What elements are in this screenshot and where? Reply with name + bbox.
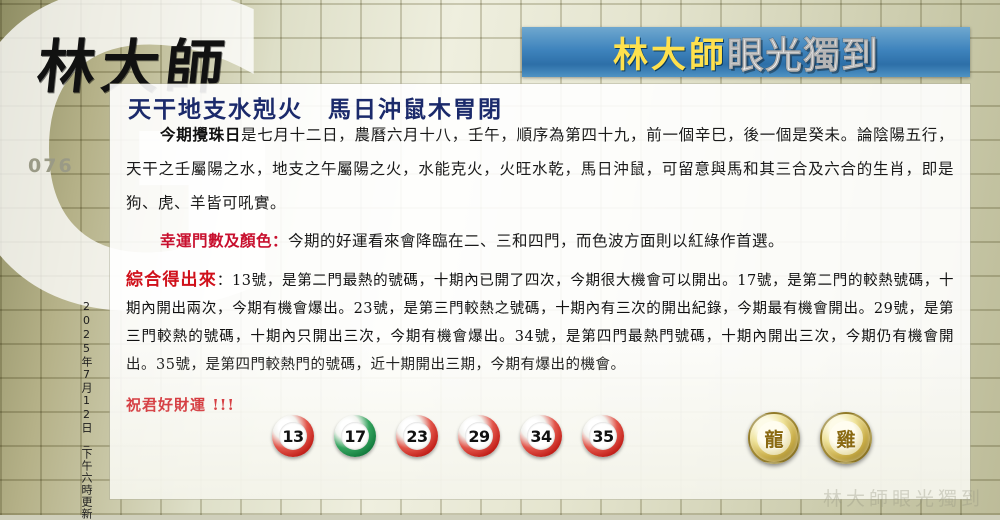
lottery-ball: 34: [520, 415, 562, 457]
bottom-watermark: 林大師眼光獨到: [823, 484, 984, 511]
lottery-ball-number: 13: [282, 427, 303, 446]
update-timestamp: 2025年7月12日_下午六時更新: [78, 300, 94, 520]
lucky-number-balls: 131723293435: [272, 415, 624, 457]
lottery-ball-number: 35: [592, 427, 613, 446]
article-paragraph-3: 綜合得出來：13號，是第二門最熱的號碼，十期內已開了四次，今期很大機會可以開出。…: [126, 267, 954, 379]
paragraph-3-lead: 綜合得出來: [126, 270, 217, 290]
paragraph-2-body: 今期的好運看來會降臨在二、三和四門，而色波方面則以紅綠作首選。: [288, 232, 784, 250]
zodiac-coin-glyph: 龍: [764, 425, 783, 452]
poster-canvas: G 林大師 076 2025年7月12日_下午六時更新 林大師 眼光獨到 天干地…: [0, 0, 1000, 515]
lottery-ball-number: 34: [530, 427, 551, 446]
banner-title-yellow: 林大師: [613, 27, 727, 77]
lottery-ball-number: 29: [468, 427, 489, 446]
lottery-ball-face: 35: [589, 422, 617, 450]
paragraph-1-lead: 今期攪珠日: [160, 125, 241, 144]
lottery-ball-face: 23: [403, 422, 431, 450]
paragraph-1-body: 是七月十二日，農曆六月十八，壬午，順序為第四十九，前一個辛巳，後一個是癸未。論陰…: [126, 126, 954, 212]
lottery-ball: 35: [582, 415, 624, 457]
zodiac-coin-face: 龍: [757, 421, 791, 455]
lottery-ball-face: 34: [527, 422, 555, 450]
lottery-ball-number: 17: [344, 427, 365, 446]
paragraph-2-lead: 幸運門數及顏色：: [160, 231, 288, 250]
closing-greeting: 祝君好財運 !!!: [126, 394, 235, 415]
zodiac-coin-glyph: 雞: [836, 425, 855, 452]
lottery-ball: 13: [272, 415, 314, 457]
lottery-ball: 17: [334, 415, 376, 457]
lottery-ball: 29: [458, 415, 500, 457]
banner-title-white: 眼光獨到: [727, 27, 879, 77]
lottery-ball-face: 13: [279, 422, 307, 450]
zodiac-coins: 龍雞: [748, 412, 872, 464]
headline-banner: 林大師 眼光獨到: [522, 27, 970, 77]
zodiac-coin: 龍: [748, 412, 800, 464]
lottery-ball-face: 29: [465, 422, 493, 450]
lottery-ball-face: 17: [341, 422, 369, 450]
article-paragraph-1: 今期攪珠日是七月十二日，農曆六月十八，壬午，順序為第四十九，前一個辛巳，後一個是…: [126, 118, 954, 220]
lottery-ball-number: 23: [406, 427, 427, 446]
issue-number: 076: [28, 155, 74, 177]
zodiac-coin: 雞: [820, 412, 872, 464]
lottery-ball: 23: [396, 415, 438, 457]
article-paragraph-2: 幸運門數及顏色：今期的好運看來會降臨在二、三和四門，而色波方面則以紅綠作首選。: [126, 224, 954, 258]
zodiac-coin-face: 雞: [829, 421, 863, 455]
paragraph-3-body: ：13號，是第二門最熱的號碼，十期內已開了四次，今期很大機會可以開出。17號，是…: [126, 273, 954, 373]
